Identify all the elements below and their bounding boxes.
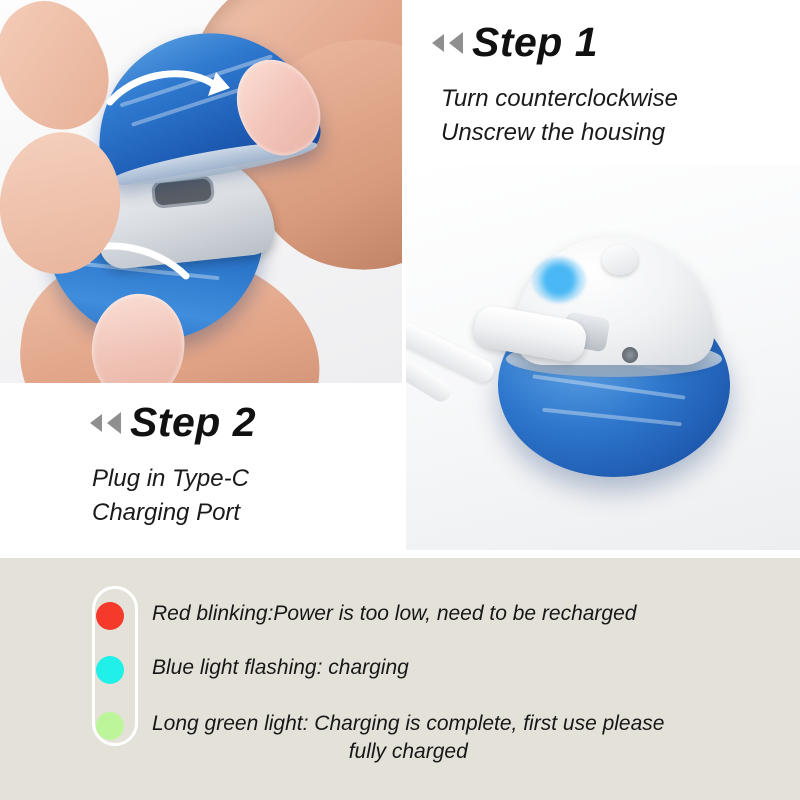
double-left-triangle-icon-outer [432, 34, 444, 52]
legend-row-green: Long green light: Charging is complete, … [96, 710, 664, 766]
double-left-triangle-icon-outer-2 [90, 414, 102, 432]
led-status-legend: Red blinking:Power is too low, need to b… [0, 558, 800, 800]
green-indicator-dot [96, 712, 124, 740]
step-1-body: Turn counterclockwise Unscrew the housin… [441, 82, 678, 150]
photo-charging [406, 165, 800, 550]
step-2-body: Plug in Type-C Charging Port [92, 462, 249, 530]
blue-led-glow-icon [532, 257, 586, 303]
infographic-page: Step 1 Turn counterclockwise Unscrew the… [0, 0, 800, 800]
step-1-title: Step 1 [472, 22, 598, 63]
legend-text-green: Long green light: Charging is complete, … [152, 710, 664, 766]
screw-icon [622, 347, 638, 363]
double-left-triangle-icon-inner [449, 32, 463, 54]
step-2-title: Step 2 [130, 402, 256, 443]
legend-row-red: Red blinking:Power is too low, need to b… [96, 600, 636, 630]
power-button-icon [602, 245, 638, 275]
legend-text-blue: Blue light flashing: charging [152, 654, 409, 682]
curved-rotation-arrow-icon-top [104, 64, 234, 120]
legend-row-blue: Blue light flashing: charging [96, 654, 409, 684]
red-indicator-dot [96, 602, 124, 630]
double-left-triangle-icon-inner-2 [107, 412, 121, 434]
step-1-heading: Step 1 [432, 22, 598, 63]
photo-open-housing [0, 0, 402, 383]
step-2-heading: Step 2 [90, 402, 256, 443]
blue-indicator-dot [96, 656, 124, 684]
legend-text-red: Red blinking:Power is too low, need to b… [152, 600, 636, 628]
